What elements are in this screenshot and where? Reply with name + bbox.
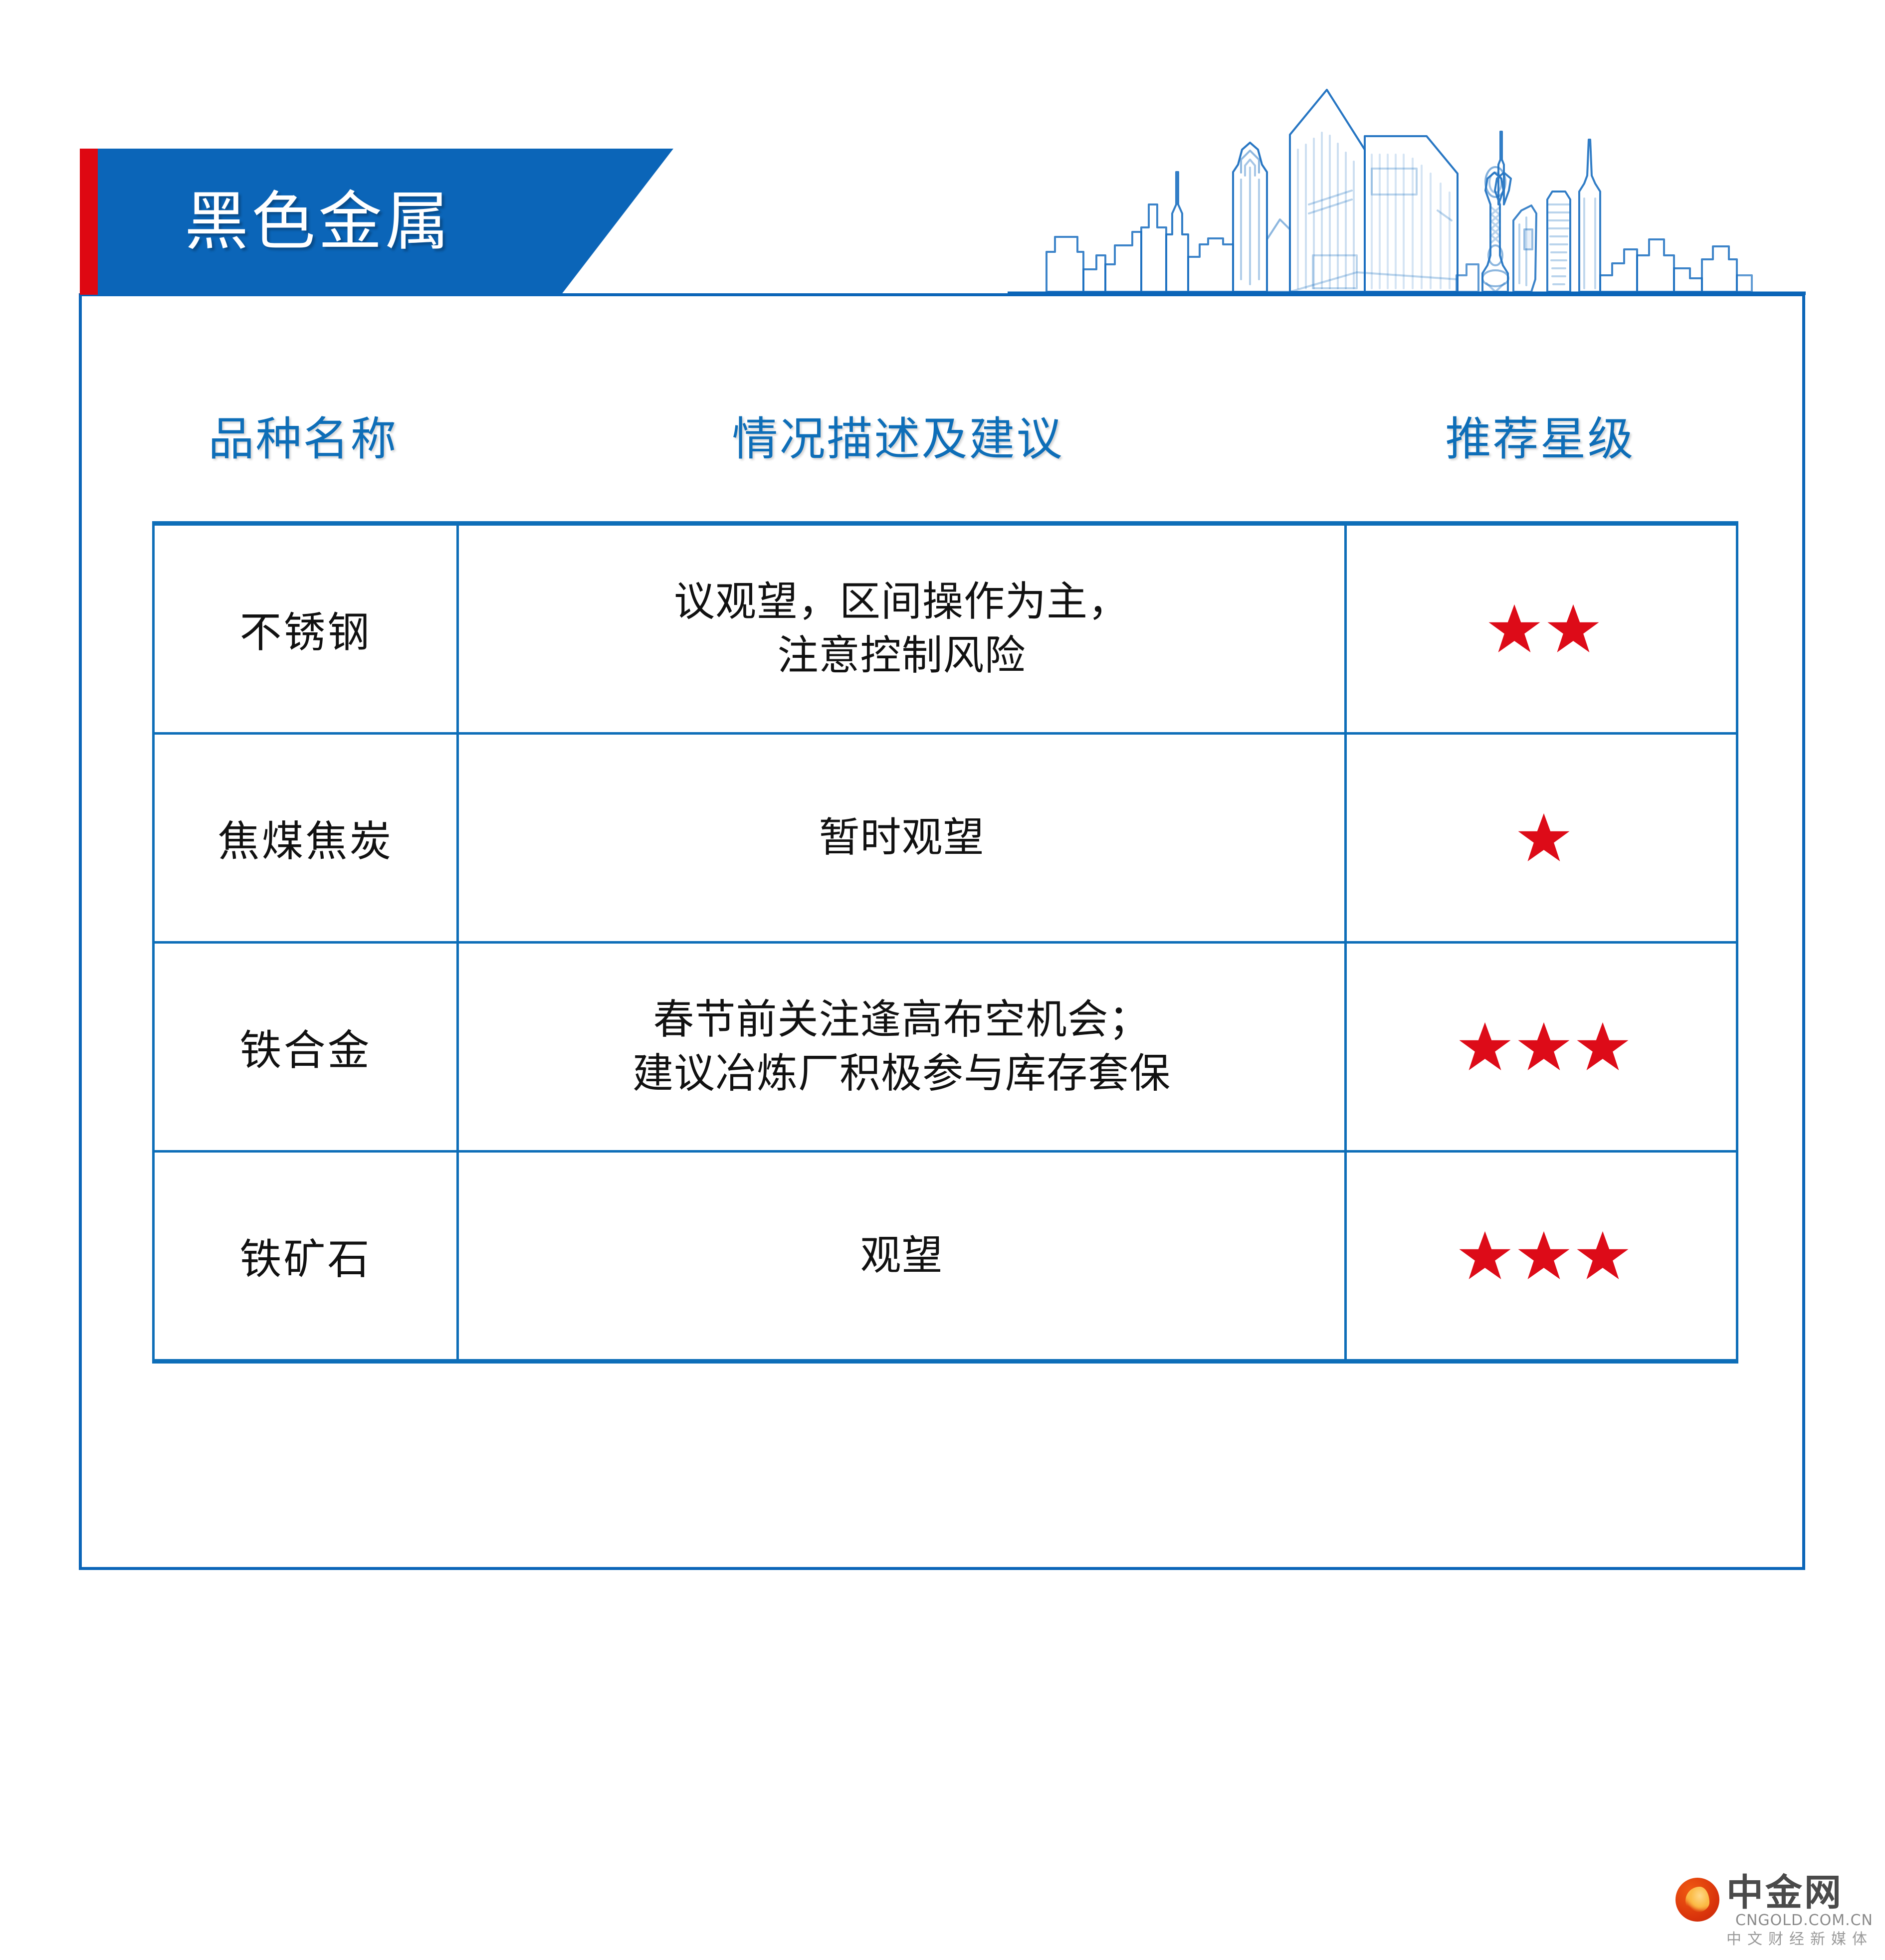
column-header-rating: 推荐星级 — [1342, 402, 1738, 468]
section-banner: 黑色金属 — [80, 149, 673, 295]
variety-cell: 铁矿石 — [155, 1153, 456, 1359]
table-body: 不锈钢 议观望，区间操作为主， 注意控制风险 — [152, 521, 1738, 1364]
table-row: 焦煤焦炭 暂时观望 — [155, 732, 1736, 941]
rating-cell — [1344, 735, 1741, 941]
watermark: 中金网 CNGOLD.COM.CN 中文财经新媒体 — [1676, 1875, 1873, 1949]
description-cell: 春节前关注逢高布空机会； 建议冶炼厂积极参与库存套保 — [456, 944, 1344, 1150]
column-header-variety: 品种名称 — [152, 402, 454, 468]
star-icon — [1486, 601, 1542, 657]
table-header-row: 品种名称 情况描述及建议 推荐星级 — [152, 349, 1738, 521]
star-icon — [1516, 1228, 1572, 1284]
star-rating — [1457, 1228, 1631, 1284]
column-header-description: 情况描述及建议 — [454, 402, 1342, 468]
description-cell: 议观望，区间操作为主， 注意控制风险 — [456, 526, 1344, 732]
watermark-tagline: 中文财经新媒体 — [1726, 1930, 1873, 1949]
variety-name: 铁矿石 — [239, 1226, 371, 1286]
star-rating — [1516, 810, 1572, 866]
description-line-1: 暂时观望 — [819, 811, 984, 865]
variety-cell: 不锈钢 — [155, 526, 456, 732]
watermark-url: CNGOLD.COM.CN — [1726, 1911, 1873, 1930]
rating-cell — [1344, 944, 1741, 1150]
description-text: 议观望，区间操作为主， 注意控制风险 — [674, 575, 1129, 683]
description-text: 暂时观望 — [819, 811, 984, 865]
variety-name: 铁合金 — [239, 1017, 371, 1077]
description-line-1: 议观望，区间操作为主， — [674, 575, 1129, 629]
star-icon — [1457, 1228, 1513, 1284]
watermark-text: 中金网 CNGOLD.COM.CN 中文财经新媒体 — [1726, 1875, 1873, 1949]
recommendation-table: 品种名称 情况描述及建议 推荐星级 不锈钢 议观望，区间操作为主， 注意控制风险 — [152, 349, 1738, 1364]
description-text: 春节前关注逢高布空机会； 建议冶炼厂积极参与库存套保 — [632, 993, 1171, 1101]
city-skyline-icon — [1008, 80, 1806, 297]
description-line-1: 观望 — [860, 1229, 943, 1283]
banner-red-accent — [80, 149, 98, 295]
variety-name: 焦煤焦炭 — [217, 808, 393, 868]
rating-cell — [1344, 1153, 1741, 1359]
description-line-2: 建议冶炼厂积极参与库存套保 — [632, 1047, 1171, 1101]
rating-cell — [1344, 526, 1741, 732]
description-line-2: 注意控制风险 — [674, 629, 1129, 683]
page-title: 黑色金属 — [185, 190, 452, 254]
star-icon — [1575, 1019, 1631, 1075]
star-rating — [1486, 601, 1601, 657]
star-icon — [1516, 810, 1572, 866]
table-row: 铁矿石 观望 — [155, 1150, 1736, 1359]
table-row: 不锈钢 议观望，区间操作为主， 注意控制风险 — [155, 526, 1736, 732]
description-line-1: 春节前关注逢高布空机会； — [632, 993, 1171, 1047]
star-icon — [1545, 601, 1601, 657]
variety-name: 不锈钢 — [239, 599, 371, 659]
cngold-logo-icon — [1676, 1878, 1719, 1922]
description-cell: 观望 — [456, 1153, 1344, 1359]
star-rating — [1457, 1019, 1631, 1075]
star-icon — [1516, 1019, 1572, 1075]
star-icon — [1457, 1019, 1513, 1075]
table-row: 铁合金 春节前关注逢高布空机会； 建议冶炼厂积极参与库存套保 — [155, 941, 1736, 1150]
variety-cell: 铁合金 — [155, 944, 456, 1150]
variety-cell: 焦煤焦炭 — [155, 735, 456, 941]
description-text: 观望 — [860, 1229, 943, 1283]
star-icon — [1575, 1228, 1631, 1284]
slide-page: 黑色金属 品种名称 情况描述及建议 推荐星级 不锈钢 议观望，区间操作为主， 注… — [0, 0, 1885, 1960]
description-cell: 暂时观望 — [456, 735, 1344, 941]
watermark-brand: 中金网 — [1726, 1875, 1873, 1911]
